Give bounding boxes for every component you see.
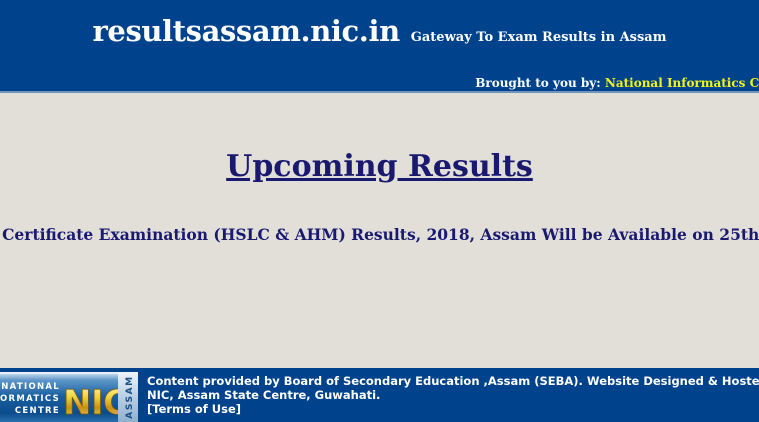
footer-credits: Content provided by Board of Secondary E… [147, 374, 753, 416]
page-root: resultsassam.nic.in Gateway To Exam Resu… [0, 0, 759, 422]
brand-row: resultsassam.nic.in Gateway To Exam Resu… [0, 14, 759, 55]
terms-of-use-link[interactable]: [Terms of Use] [147, 402, 753, 416]
footer-credit-line-2: NIC, Assam State Centre, Guwahati. [147, 388, 753, 402]
brought-to-you-by: Brought to you by: National Informatics … [475, 76, 759, 91]
nic-logo-org-line2: INFORMATICS [0, 394, 60, 404]
brought-to-you-by-org-link[interactable]: National Informatics Centre [605, 76, 759, 90]
page-title: Upcoming Results [226, 150, 533, 184]
nic-logo-org-line3: CENTRE [15, 406, 60, 416]
site-title: resultsassam.nic.in [93, 14, 400, 48]
footer-credit-line-1: Content provided by Board of Secondary E… [147, 374, 753, 388]
site-footer: NATIONAL INFORMATICS CENTRE NIC ASSAM Co… [0, 368, 759, 422]
site-tagline: Gateway To Exam Results in Assam [411, 21, 667, 55]
announcement-text: High School Leaving Certificate Examinat… [0, 223, 759, 247]
nic-logo: NATIONAL INFORMATICS CENTRE NIC ASSAM [0, 372, 138, 422]
nic-logo-org-line1: NATIONAL [1, 382, 60, 392]
main-content: Upcoming Results High School Leaving Cer… [0, 93, 759, 368]
announcement-marquee: High School Leaving Certificate Examinat… [0, 223, 759, 249]
nic-logo-state: ASSAM [125, 375, 135, 418]
site-header: resultsassam.nic.in Gateway To Exam Resu… [0, 0, 759, 93]
brought-to-you-by-label: Brought to you by: [475, 76, 600, 90]
nic-logo-acronym: NIC [63, 383, 128, 422]
upcoming-results-heading-wrap: Upcoming Results [0, 150, 759, 184]
